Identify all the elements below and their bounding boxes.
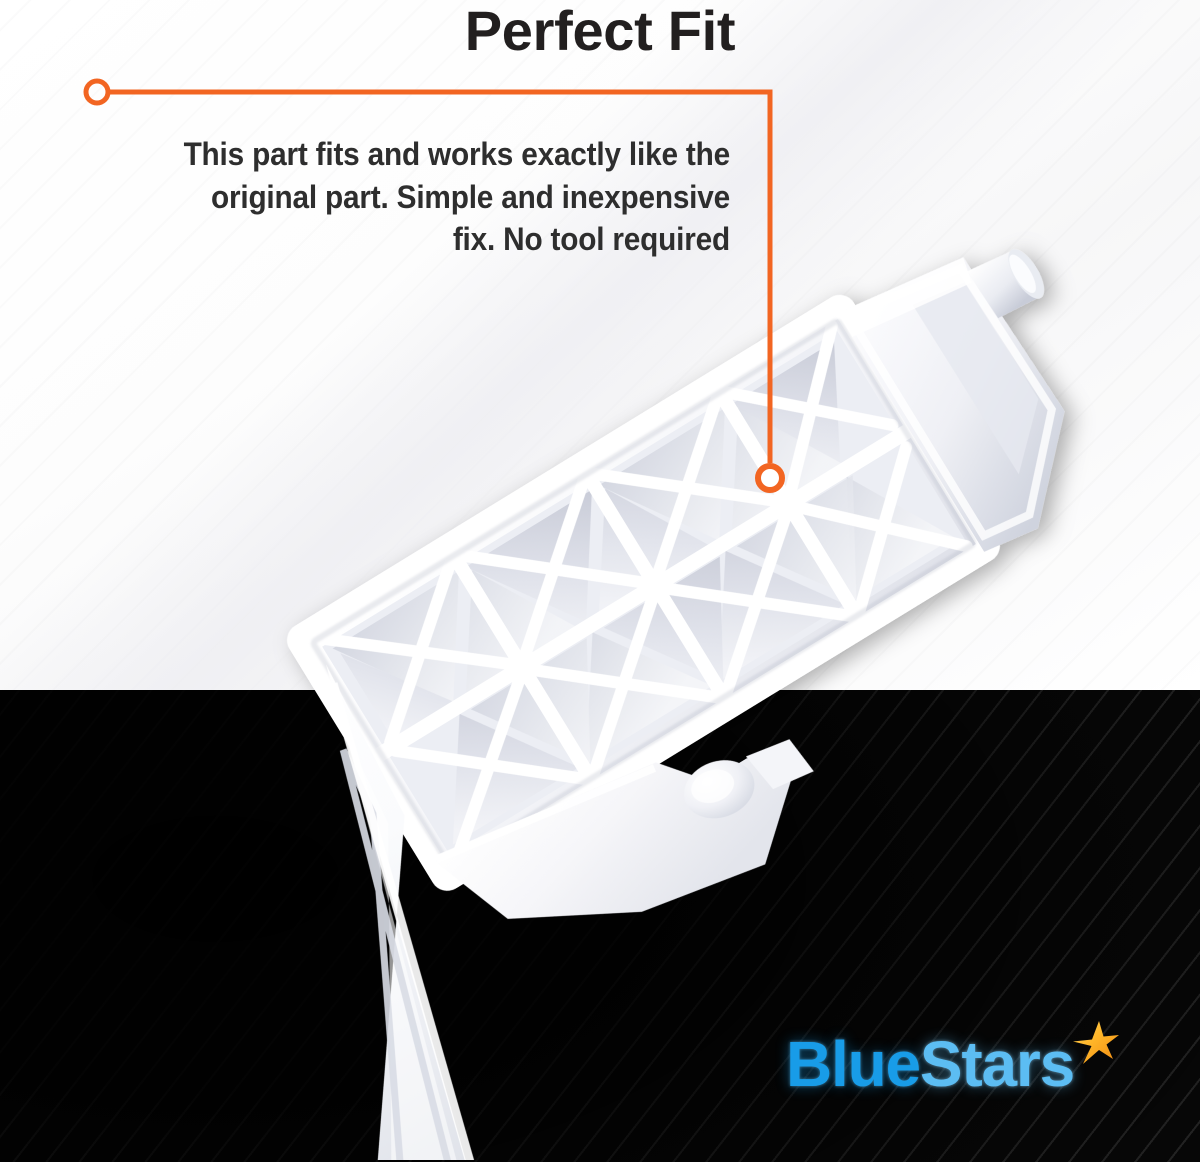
background-light-panel (0, 0, 1200, 690)
bluestars-logo: Blue Stars (786, 1032, 1122, 1096)
star-icon (1068, 1017, 1122, 1071)
callout-body-text: This part fits and works exactly like th… (163, 133, 730, 261)
product-infographic-canvas: Perfect Fit This part fits and works exa… (0, 0, 1200, 1162)
logo-word-stars: Stars (920, 1032, 1074, 1096)
logo-word-blue: Blue (786, 1032, 920, 1096)
page-title: Perfect Fit (0, 2, 1200, 59)
